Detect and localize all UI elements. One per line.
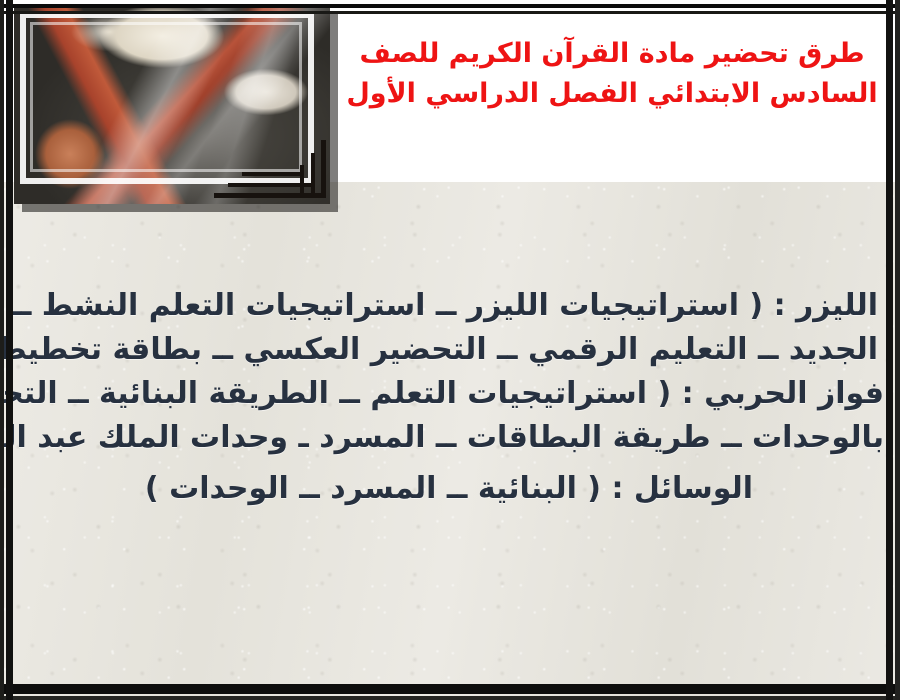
frame-border-bottom-secondary bbox=[0, 696, 900, 700]
frame-border-bottom bbox=[0, 684, 900, 694]
body-line-4: بالوحدات ــ طريقة البطاقات ــ المسرد ـ و… bbox=[14, 420, 884, 455]
page-title-line-2: السادس الابتدائي الفصل الدراسي الأول bbox=[342, 74, 882, 114]
frame-border-right bbox=[886, 0, 893, 700]
page-title-line-1: طرق تحضير مادة القرآن الكريم للصف bbox=[342, 34, 882, 74]
frame-border-top bbox=[0, 4, 900, 8]
frame-border-right-secondary bbox=[895, 0, 900, 700]
body-content: الليزر : ( استراتيجيات الليزر ــ استراتي… bbox=[14, 288, 884, 515]
photo-corner-ornament-icon bbox=[214, 140, 326, 198]
quran-photo bbox=[14, 6, 330, 204]
frame-border-left-secondary bbox=[0, 0, 4, 700]
frame-border-left bbox=[6, 0, 13, 700]
page-title: طرق تحضير مادة القرآن الكريم للصف السادس… bbox=[342, 34, 882, 114]
body-line-5: الوسائل : ( البنائية ــ المسرد ــ الوحدا… bbox=[14, 471, 884, 506]
body-line-2: الجديد ــ التعليم الرقمي ــ التحضير العك… bbox=[14, 332, 884, 367]
slide-canvas: طرق تحضير مادة القرآن الكريم للصف السادس… bbox=[0, 0, 900, 700]
body-line-3: فواز الحربي : ( استراتيجيات التعلم ــ ال… bbox=[14, 376, 884, 411]
frame-border-top-secondary bbox=[0, 11, 900, 14]
body-line-1: الليزر : ( استراتيجيات الليزر ــ استراتي… bbox=[14, 288, 884, 323]
